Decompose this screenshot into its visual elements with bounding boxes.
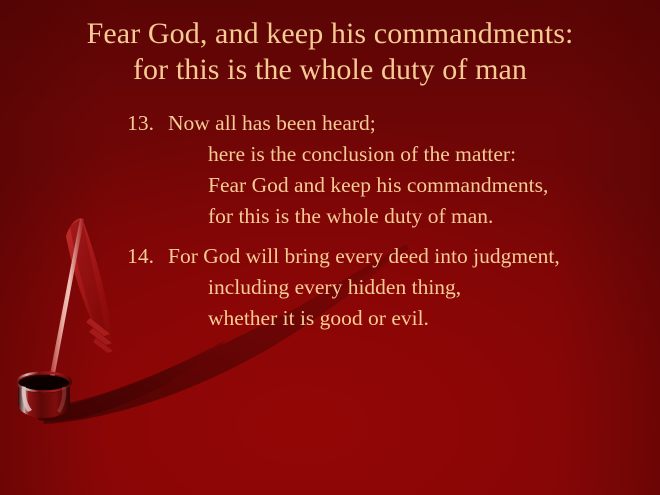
verse-number: 13. [118, 108, 154, 139]
verse-item: 13. Now all has been heard; here is the … [0, 108, 660, 232]
slide-canvas: Fear God, and keep his commandments: for… [0, 0, 660, 495]
verse-number: 14. [118, 241, 154, 272]
slide-title: Fear God, and keep his commandments: for… [0, 16, 660, 88]
verse-line: For God will bring every deed into judgm… [168, 241, 660, 272]
verse-text: For God will bring every deed into judgm… [0, 241, 660, 334]
verse-line: Fear God and keep his commandments, [168, 170, 660, 201]
verse-line: whether it is good or evil. [168, 303, 660, 334]
verse-line: here is the conclusion of the matter: [168, 139, 660, 170]
verse-line: Now all has been heard; [168, 108, 660, 139]
verse-list: 13. Now all has been heard; here is the … [0, 108, 660, 343]
verse-line: including every hidden thing, [168, 272, 660, 303]
verse-text: Now all has been heard; here is the conc… [0, 108, 660, 232]
verse-item: 14. For God will bring every deed into j… [0, 241, 660, 334]
verse-line: for this is the whole duty of man. [168, 201, 660, 232]
